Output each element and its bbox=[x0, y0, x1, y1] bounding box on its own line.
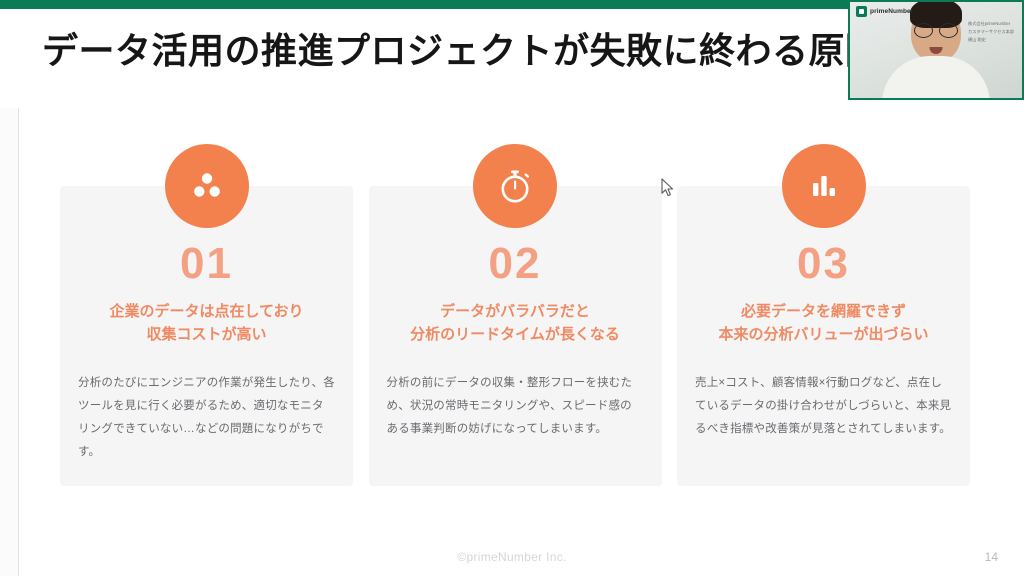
card-heading: 必要データを網羅できず 本来の分析バリューが出づらい bbox=[691, 300, 956, 347]
cards-row: 01 企業のデータは点在しており 収集コストが高い 分析のたびにエンジニアの作業… bbox=[60, 186, 970, 486]
viewer-left-gutter bbox=[0, 108, 18, 576]
page-number: 14 bbox=[985, 550, 998, 564]
card-01: 01 企業のデータは点在しており 収集コストが高い 分析のたびにエンジニアの作業… bbox=[60, 186, 353, 486]
top-accent-bar bbox=[0, 0, 848, 9]
card-heading: データがバラバラだと 分析のリードタイムが長くなる bbox=[383, 300, 648, 347]
webcam-overlay[interactable]: primeNumber 株式会社primeNumber カスタマーサクセス本部 … bbox=[848, 0, 1024, 100]
card-number: 03 bbox=[677, 242, 970, 286]
webcam-person-glasses bbox=[914, 23, 958, 36]
card-number: 02 bbox=[369, 242, 662, 286]
page-title: データ活用の推進プロジェクトが失敗に終わる原因 bbox=[42, 28, 842, 73]
card-02: 02 データがバラバラだと 分析のリードタイムが長くなる 分析の前にデータの収集… bbox=[369, 186, 662, 486]
webcam-speaker-caption: 株式会社primeNumber カスタマーサクセス本部 横山 剛史 bbox=[968, 20, 1014, 44]
three-dots-icon bbox=[165, 144, 249, 228]
slide-stage: データ活用の推進プロジェクトが失敗に終わる原因 01 企業のデータは点在しており… bbox=[0, 0, 1024, 576]
bar-chart-icon bbox=[782, 144, 866, 228]
card-03: 03 必要データを網羅できず 本来の分析バリューが出づらい 売上×コスト、顧客情… bbox=[677, 186, 970, 486]
stopwatch-icon bbox=[473, 144, 557, 228]
card-number: 01 bbox=[60, 242, 353, 286]
webcam-logo: primeNumber bbox=[856, 6, 913, 17]
card-body-text: 売上×コスト、顧客情報×行動ログなど、点在しているデータの掛け合わせがしづらいと… bbox=[695, 372, 952, 441]
card-body-text: 分析のたびにエンジニアの作業が発生したり、各ツールを見に行く必要がるため、適切な… bbox=[78, 372, 335, 464]
card-body-text: 分析の前にデータの収集・整形フローを挟むため、状況の常時モニタリングや、スピード… bbox=[387, 372, 644, 441]
webcam-logo-text: primeNumber bbox=[870, 8, 913, 15]
card-heading: 企業のデータは点在しており 収集コストが高い bbox=[74, 300, 339, 347]
viewer-left-border bbox=[18, 108, 19, 576]
webcam-person-body bbox=[882, 56, 990, 100]
footer-copyright: ©primeNumber Inc. bbox=[0, 550, 1024, 564]
primenumber-logo-icon bbox=[856, 6, 867, 17]
